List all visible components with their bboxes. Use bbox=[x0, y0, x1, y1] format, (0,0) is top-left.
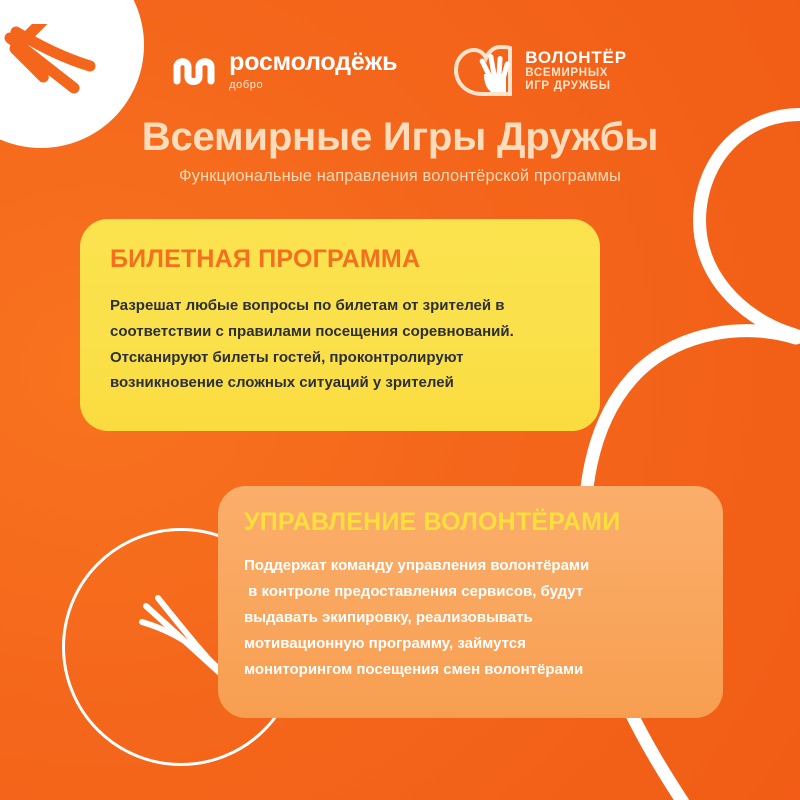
card-ticket-program-body: Разрешат любые вопросы по билетам от зри… bbox=[110, 293, 570, 396]
card-volunteer-line: в контроле предоставления сервисов, буду… bbox=[244, 579, 697, 605]
card-ticket-line: возникновение сложных ситуаций у зрителе… bbox=[110, 370, 570, 396]
card-volunteer-management: УПРАВЛЕНИЕ ВОЛОНТЁРАМИ Поддержат команду… bbox=[218, 486, 723, 718]
card-volunteer-line: выдавать экипировку, реализовывать bbox=[244, 605, 697, 631]
rosmolodezh-m-mark-icon bbox=[173, 55, 217, 85]
card-ticket-program-title: БИЛЕТНАЯ ПРОГРАММА bbox=[110, 245, 570, 274]
card-volunteer-management-body: Поддержат команду управления волонтёрами… bbox=[244, 553, 697, 683]
logo-row: росмолодёжь добро ВОЛОНТЁР ВСЕМИРНЫХ ИГР… bbox=[0, 34, 800, 106]
card-ticket-line: Отсканируют билеты гостей, проконтролиру… bbox=[110, 345, 570, 371]
page-title: Всемирные Игры Дружбы bbox=[0, 116, 800, 158]
card-volunteer-line: мотивационную программу, займутся bbox=[244, 631, 697, 657]
heart-with-hand-icon bbox=[453, 40, 515, 100]
volunteer-line-1: ВОЛОНТЁР bbox=[525, 48, 627, 67]
volunteer-line-3: ИГР ДРУЖБЫ bbox=[525, 80, 627, 93]
rosmolodezh-wordmark: росмолодёжь добро bbox=[229, 50, 397, 91]
card-volunteer-line: Поддержат команду управления волонтёрами bbox=[244, 553, 697, 579]
rosmolodezh-logo: росмолодёжь добро bbox=[173, 50, 397, 91]
poster-canvas: росмолодёжь добро ВОЛОНТЁР ВСЕМИРНЫХ ИГР… bbox=[0, 0, 800, 800]
rosmolodezh-sub: добро bbox=[229, 80, 263, 91]
card-ticket-line: Разрешат любые вопросы по билетам от зри… bbox=[110, 293, 570, 319]
volunteer-logo: ВОЛОНТЁР ВСЕМИРНЫХ ИГР ДРУЖБЫ bbox=[453, 40, 627, 100]
volunteer-wordmark: ВОЛОНТЁР ВСЕМИРНЫХ ИГР ДРУЖБЫ bbox=[525, 48, 627, 93]
card-ticket-program: БИЛЕТНАЯ ПРОГРАММА Разрешат любые вопрос… bbox=[80, 219, 600, 431]
page-subtitle: Функциональные направления волонтёрской … bbox=[0, 167, 800, 186]
card-volunteer-management-title: УПРАВЛЕНИЕ ВОЛОНТЁРАМИ bbox=[244, 508, 697, 537]
volunteer-line-2: ВСЕМИРНЫХ bbox=[525, 67, 627, 80]
card-ticket-line: соответствии с правилами посещения сорев… bbox=[110, 319, 570, 345]
rosmolodezh-name: росмолодёжь bbox=[229, 50, 397, 75]
card-volunteer-line: мониторингом посещения смен волонтёрами bbox=[244, 657, 697, 683]
headline-block: Всемирные Игры Дружбы Функциональные нап… bbox=[0, 116, 800, 186]
